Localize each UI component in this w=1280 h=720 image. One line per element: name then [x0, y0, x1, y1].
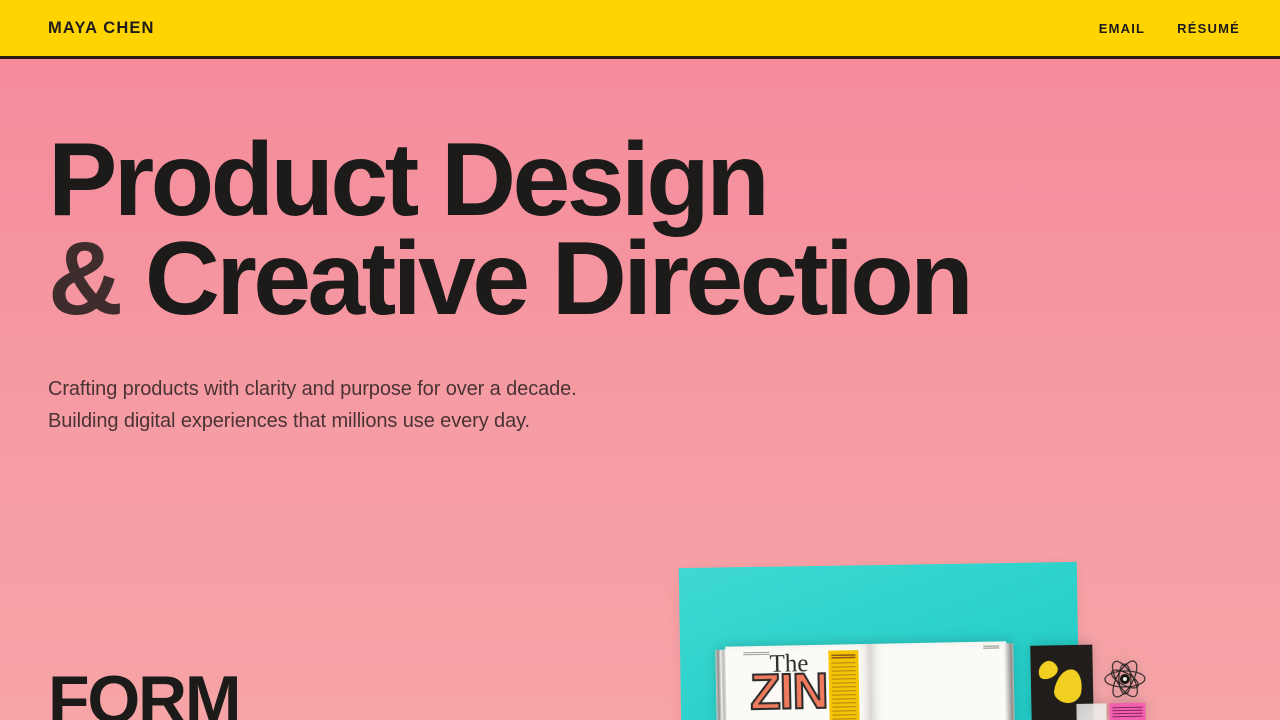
pear-shape-large-icon [1053, 667, 1085, 705]
sticky-note-text-lines [1112, 707, 1142, 719]
zine-sidebar-heading-lines [831, 654, 855, 659]
zine-photo: The ZIN [666, 556, 1096, 720]
hero-title-line-2-text: Creative Direction [145, 221, 970, 337]
open-zine-book: The ZIN [715, 641, 1015, 720]
zine-photo-clipping [1076, 703, 1106, 720]
nav-link-resume[interactable]: RÉSUMÉ [1177, 21, 1240, 36]
hero-subtitle: Crafting products with clarity and purpo… [0, 373, 1280, 437]
page-title: Product Design & Creative Direction [0, 131, 1280, 329]
atom-diagram-icon [1102, 657, 1147, 702]
primary-navigation: EMAIL RÉSUMÉ [1099, 21, 1240, 36]
zine-page-left: The ZIN [725, 644, 872, 720]
book-page-stack-right [1003, 643, 1015, 720]
zine-title-word: ZIN [750, 671, 828, 712]
hero-title-line-1: Product Design [48, 131, 1280, 230]
pear-shape-small-icon [1035, 658, 1060, 681]
hero-subtitle-line-2: Building digital experiences that millio… [48, 405, 1280, 437]
zine-sidebar-body-lines [832, 662, 857, 720]
nav-link-email[interactable]: EMAIL [1099, 21, 1145, 36]
hero-section: Product Design & Creative Direction Craf… [0, 59, 1280, 437]
brand-logo[interactable]: MAYA CHEN [48, 19, 155, 38]
hero-subtitle-line-1: Crafting products with clarity and purpo… [48, 373, 1280, 405]
ampersand-glyph: & [48, 221, 120, 337]
pink-sticky-note [1109, 703, 1145, 720]
zine-folio-number [983, 645, 999, 648]
page-root: MAYA CHEN EMAIL RÉSUMÉ Product Design & … [0, 0, 1280, 720]
zine-page-right [870, 641, 1008, 720]
site-header: MAYA CHEN EMAIL RÉSUMÉ [0, 0, 1280, 59]
hero-title-line-2: & Creative Direction [48, 230, 1280, 329]
zine-kicker-text [743, 652, 769, 656]
section-heading-form: FORM [48, 666, 239, 720]
zine-yellow-sidebar [828, 650, 859, 720]
